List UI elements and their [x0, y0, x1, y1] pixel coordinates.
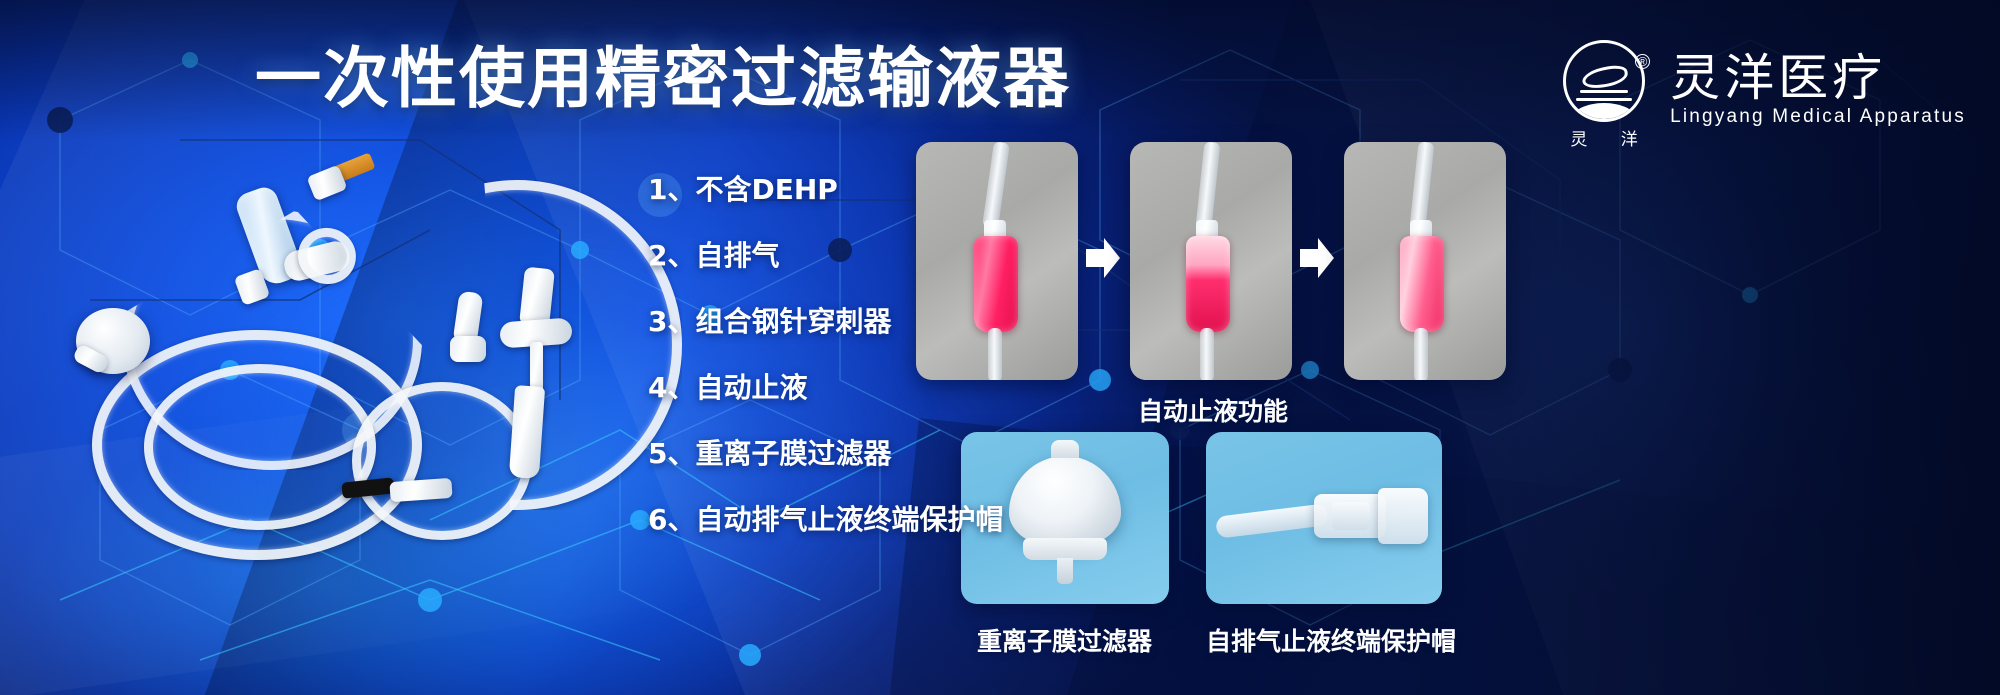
brand-name-cn: 灵洋医疗 — [1670, 52, 1966, 105]
cap-photo-panel — [1206, 432, 1442, 604]
sequence-photo-2 — [1130, 142, 1292, 380]
logo-emblem-icon: ® 灵 洋 — [1556, 40, 1652, 140]
feature-item-2: 2、自排气 — [648, 242, 1003, 270]
feature-item-4: 4、自动止液 — [648, 374, 1003, 402]
page-title: 一次性使用精密过滤输液器 — [255, 46, 1071, 112]
product-photo-infusion-set — [52, 150, 672, 550]
sequence-arrow-2-icon — [1300, 238, 1334, 283]
filter-caption: 重离子膜过滤器 — [977, 622, 1152, 658]
flow-regulator — [450, 336, 486, 362]
brand-name-en: Lingyang Medical Apparatus — [1670, 106, 1966, 128]
registered-mark-icon: ® — [1635, 54, 1650, 69]
feature-item-1: 1、不含DEHP — [648, 176, 1003, 204]
brand-logo: ® 灵 洋 灵洋医疗 Lingyang Medical Apparatus — [1556, 40, 1966, 140]
cap-caption: 自排气止液终端保护帽 — [1206, 622, 1456, 658]
tube-coil-inner — [144, 364, 376, 530]
feature-list: 1、不含DEHP 2、自排气 3、组合钢针穿刺器 4、自动止液 5、重离子膜过滤… — [648, 176, 1003, 534]
terminal-protective-cap — [509, 385, 545, 479]
sequence-photo-3 — [1344, 142, 1506, 380]
sequence-arrow-1-icon — [1086, 238, 1120, 283]
logo-mark-label: 灵 洋 — [1556, 125, 1652, 150]
sequence-caption: 自动止液功能 — [1138, 392, 1288, 428]
product-banner: 一次性使用精密过滤输液器 ® 灵 洋 灵洋医疗 Lingyang Medical… — [0, 0, 2000, 695]
feature-item-6: 6、自动排气止液终端保护帽 — [648, 506, 1003, 534]
feature-item-5: 5、重离子膜过滤器 — [648, 440, 1003, 468]
feature-item-3: 3、组合钢针穿刺器 — [648, 308, 1003, 336]
